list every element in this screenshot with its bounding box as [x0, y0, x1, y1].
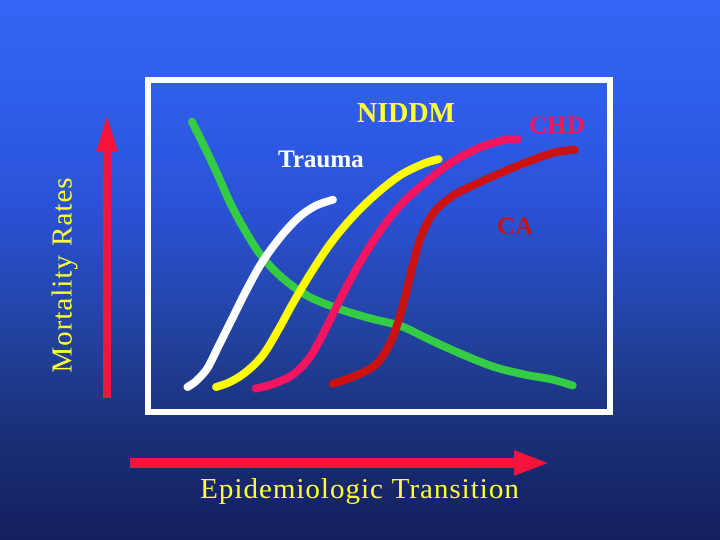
- series-label-chd: CHD: [529, 112, 585, 140]
- series-label-ca: CA: [497, 213, 533, 241]
- series-label-trauma: Trauma: [278, 146, 364, 174]
- slide-canvas: Mortality Rates Epidemiologic Transition…: [0, 0, 720, 540]
- up-arrow-icon: [92, 112, 122, 398]
- series-label-niddm: NIDDM: [357, 98, 455, 130]
- x-axis-title: Epidemiologic Transition: [145, 473, 575, 506]
- y-axis-title: Mortality Rates: [47, 150, 80, 400]
